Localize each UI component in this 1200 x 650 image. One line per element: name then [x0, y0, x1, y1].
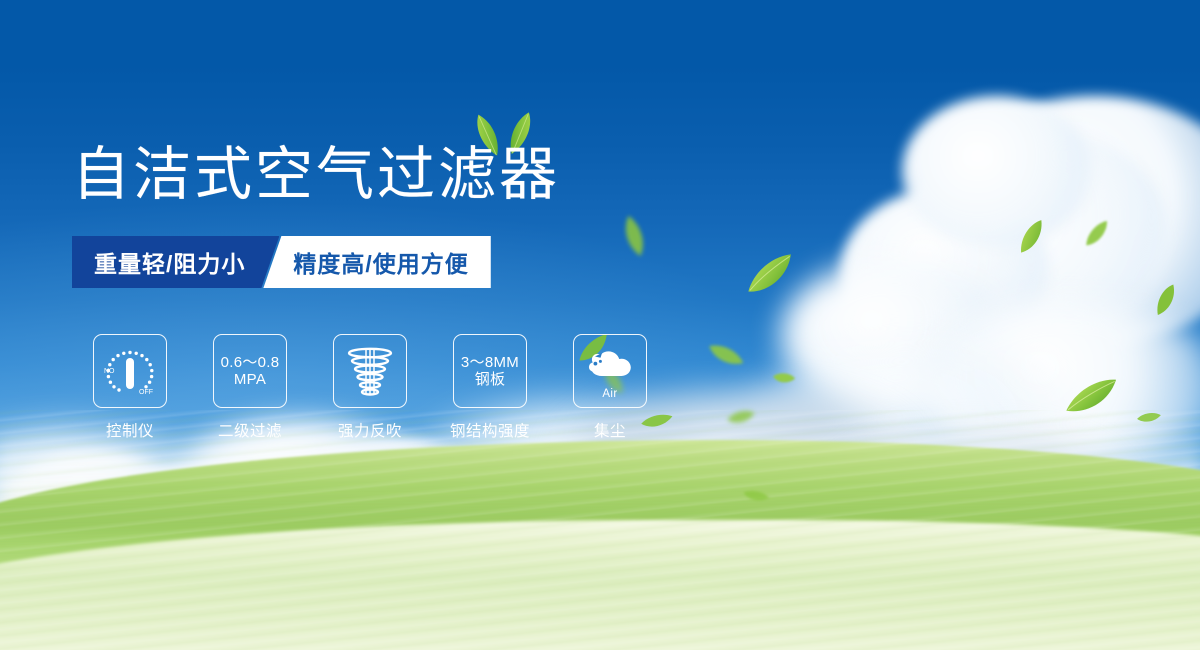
control-dial-icon: NO OFF — [101, 342, 159, 400]
page-title: 自洁式空气过滤器 — [72, 146, 560, 204]
steel-line-1: 3～8MM — [461, 354, 519, 371]
feature-item-steel-strength[interactable]: 3～8MM 钢板 钢结构强度 — [444, 334, 536, 441]
feature-icon-row: NO OFF 控制仪 0.6～0.8 MPA 二级过滤 — [84, 334, 656, 441]
steel-plate-text-icon: 3～8MM 钢板 — [461, 354, 519, 389]
air-cloud-icon — [582, 344, 638, 388]
feature-label: 钢结构强度 — [450, 419, 530, 441]
feature-item-control-panel[interactable]: NO OFF 控制仪 — [84, 334, 176, 441]
feature-label: 集尘 — [594, 419, 626, 441]
feature-label: 二级过滤 — [218, 419, 282, 441]
feature-icon-box — [333, 334, 407, 408]
feature-item-two-stage-filter[interactable]: 0.6～0.8 MPA 二级过滤 — [204, 334, 296, 441]
feature-icon-box: NO OFF — [93, 334, 167, 408]
feature-item-dust-collection[interactable]: Air 集尘 — [564, 334, 656, 441]
feature-icon-box: 3～8MM 钢板 — [453, 334, 527, 408]
steel-line-2: 钢板 — [461, 371, 519, 388]
pressure-line-2: MPA — [221, 371, 280, 388]
dial-off-label: OFF — [139, 389, 153, 396]
feature-item-back-blow[interactable]: 强力反吹 — [324, 334, 416, 441]
filter-coil-icon — [344, 344, 396, 398]
feature-icon-box: Air — [573, 334, 647, 408]
feature-label: 控制仪 — [106, 419, 154, 441]
pressure-line-1: 0.6～0.8 — [221, 354, 280, 371]
subtitle-bar: 重量轻/阻力小 精度高/使用方便 — [72, 236, 491, 288]
subtitle-badge-primary: 重量轻/阻力小 — [72, 236, 279, 288]
subtitle-badge-secondary: 精度高/使用方便 — [263, 236, 490, 288]
air-text-label: Air — [574, 388, 646, 400]
pressure-text-icon: 0.6～0.8 MPA — [221, 354, 280, 389]
banner-content: 自洁式空气过滤器 重量轻/阻力小 精度高/使用方便 — [72, 0, 712, 650]
feature-label: 强力反吹 — [338, 419, 402, 441]
product-hero-banner: 自洁式空气过滤器 重量轻/阻力小 精度高/使用方便 — [0, 0, 1200, 650]
feature-icon-box: 0.6～0.8 MPA — [213, 334, 287, 408]
dial-on-label: NO — [104, 368, 115, 375]
